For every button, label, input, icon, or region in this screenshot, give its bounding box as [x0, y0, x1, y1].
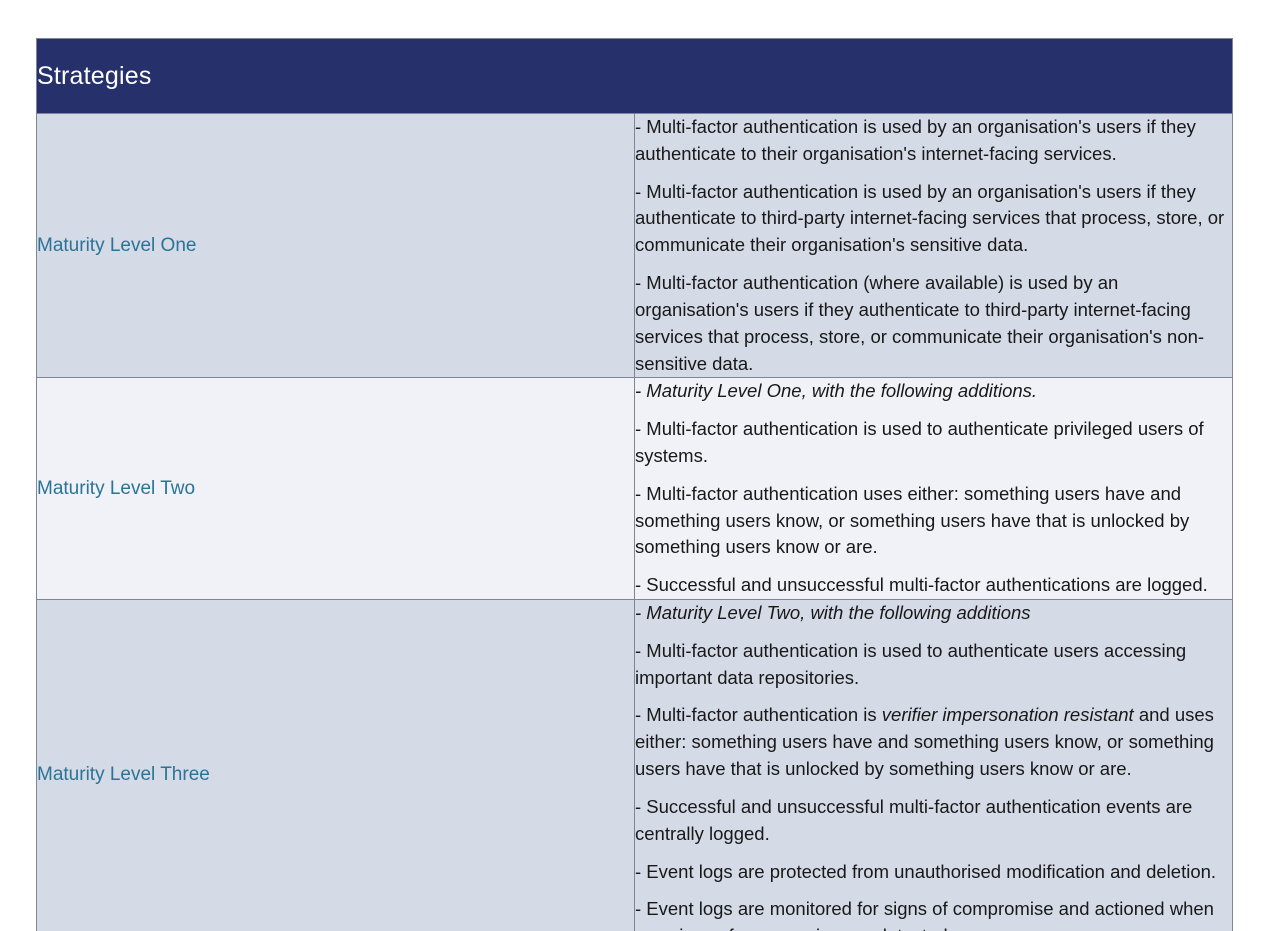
- header-row: Strategies: [37, 39, 1233, 114]
- emphasised-term: verifier impersonation resistant: [882, 704, 1134, 725]
- strategy-bullet: - Successful and unsuccessful multi-fact…: [635, 572, 1232, 599]
- bullet-text-fragment: - Multi-factor authentication is: [635, 704, 882, 725]
- strategies-cell: - Multi-factor authentication is used by…: [635, 114, 1233, 378]
- strategy-bullet: - Multi-factor authentication is used by…: [635, 114, 1232, 168]
- strategy-bullet: - Multi-factor authentication uses eithe…: [635, 481, 1232, 561]
- strategy-bullet: - Multi-factor authentication is verifie…: [635, 702, 1232, 782]
- maturity-level-label: Maturity Level One: [37, 235, 196, 256]
- strategies-table: Strategies Maturity Level One- Multi-fac…: [36, 38, 1233, 931]
- maturity-level-label: Maturity Level Three: [37, 764, 210, 785]
- strategy-bullet: - Multi-factor authentication is used by…: [635, 179, 1232, 259]
- strategy-bullet: - Event logs are monitored for signs of …: [635, 896, 1232, 931]
- strategy-bullet: - Multi-factor authentication is used to…: [635, 638, 1232, 692]
- strategy-bullet: - Maturity Level One, with the following…: [635, 378, 1232, 405]
- table-header: Strategies: [37, 39, 1233, 114]
- header-cell: Strategies: [37, 39, 1233, 114]
- strategies-cell: - Maturity Level Two, with the following…: [635, 600, 1233, 931]
- table-row: Maturity Level One- Multi-factor authent…: [37, 114, 1233, 378]
- page-root: Strategies Maturity Level One- Multi-fac…: [0, 0, 1270, 931]
- table-body: Maturity Level One- Multi-factor authent…: [37, 114, 1233, 931]
- table-row: Maturity Level Three- Maturity Level Two…: [37, 600, 1233, 931]
- page-title: Strategies: [37, 62, 152, 90]
- strategy-bullet: - Successful and unsuccessful multi-fact…: [635, 794, 1232, 848]
- maturity-level-label-cell: Maturity Level One: [37, 114, 635, 378]
- strategy-bullet: - Event logs are protected from unauthor…: [635, 859, 1232, 886]
- table-row: Maturity Level Two- Maturity Level One, …: [37, 378, 1233, 600]
- strategy-bullet: - Multi-factor authentication is used to…: [635, 416, 1232, 470]
- strategy-bullet: - Multi-factor authentication (where ava…: [635, 270, 1232, 377]
- strategies-cell: - Maturity Level One, with the following…: [635, 378, 1233, 600]
- maturity-level-label-cell: Maturity Level Two: [37, 378, 635, 600]
- strategy-bullet: - Maturity Level Two, with the following…: [635, 600, 1232, 627]
- maturity-level-label: Maturity Level Two: [37, 478, 195, 499]
- maturity-level-label-cell: Maturity Level Three: [37, 600, 635, 931]
